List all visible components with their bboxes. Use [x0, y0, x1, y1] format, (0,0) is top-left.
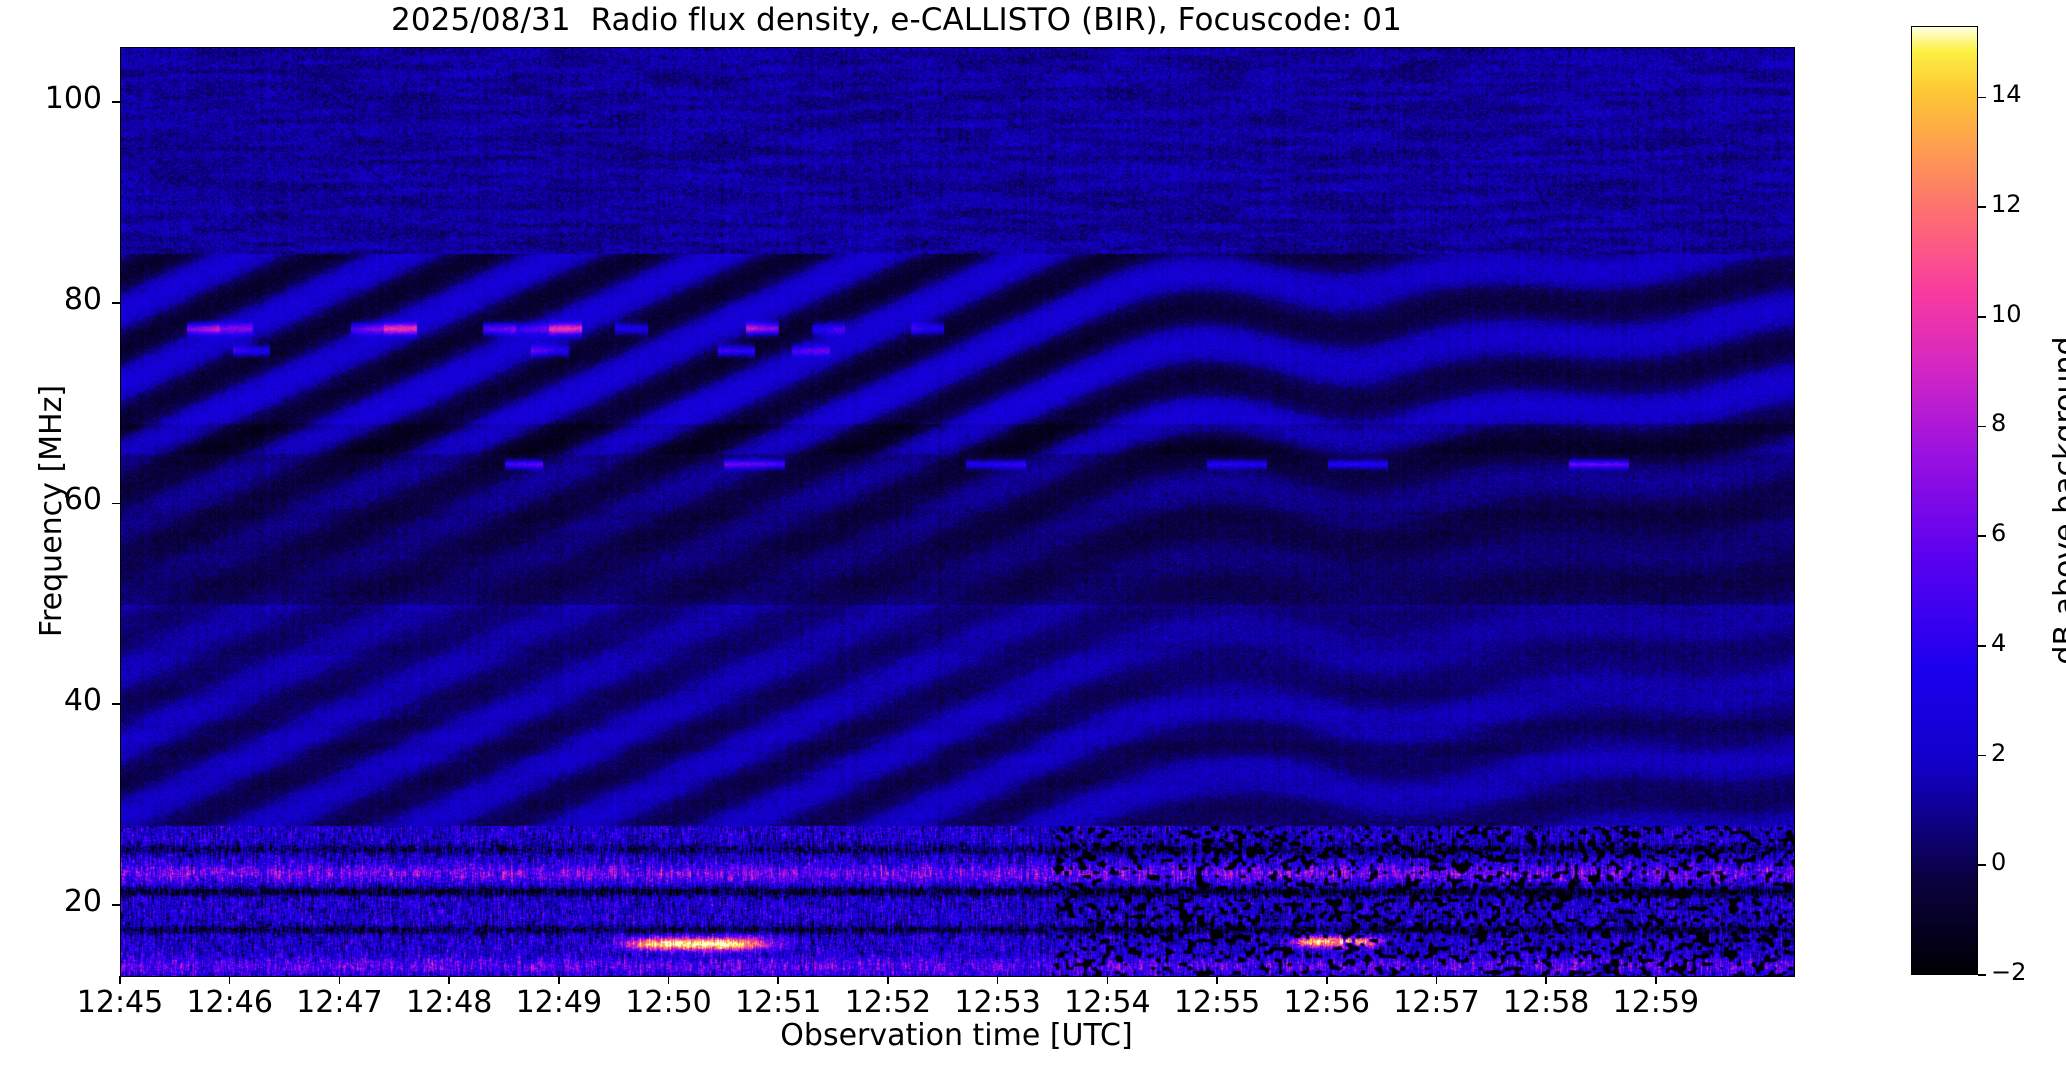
colorbar-gradient [1912, 27, 1977, 974]
spectrogram-plot-area[interactable] [120, 47, 1795, 977]
colorbar-tick-mark [1978, 97, 1986, 99]
x-tick-mark [448, 976, 450, 984]
y-tick-label: 20 [2, 884, 102, 919]
colorbar-tick-mark [1978, 316, 1986, 318]
y-tick-mark [112, 101, 120, 103]
colorbar-tick-mark [1978, 645, 1986, 647]
colorbar-tick-mark [1978, 974, 1986, 976]
colorbar-tick-label: 4 [1991, 629, 2006, 657]
colorbar-tick-mark [1978, 755, 1986, 757]
y-tick-label: 60 [2, 482, 102, 517]
colorbar-tick-label: 8 [1991, 409, 2006, 437]
colorbar-title: dB above background [2048, 26, 2066, 975]
y-tick-label: 100 [2, 81, 102, 116]
x-tick-label: 12:59 [1586, 985, 1726, 1020]
colorbar-tick-label: 6 [1991, 519, 2006, 547]
x-tick-mark [1545, 976, 1547, 984]
y-tick-label: 80 [2, 282, 102, 317]
colorbar-tick-label: 12 [1991, 190, 2022, 218]
x-tick-mark [1436, 976, 1438, 984]
y-tick-mark [112, 503, 120, 505]
colorbar-tick-mark [1978, 206, 1986, 208]
x-tick-mark [339, 976, 341, 984]
x-tick-mark [558, 976, 560, 984]
x-tick-mark [997, 976, 999, 984]
colorbar-tick-label: 0 [1991, 848, 2006, 876]
colorbar[interactable] [1911, 26, 1978, 975]
colorbar-tick-label: −2 [1991, 958, 2026, 986]
y-tick-mark [112, 904, 120, 906]
x-tick-mark [1107, 976, 1109, 984]
x-tick-mark [887, 976, 889, 984]
colorbar-tick-mark [1978, 864, 1986, 866]
x-tick-mark [119, 976, 121, 984]
x-axis-title: Observation time [UTC] [120, 1018, 1793, 1053]
x-tick-mark [668, 976, 670, 984]
colorbar-tick-label: 14 [1991, 80, 2022, 108]
x-tick-mark [1326, 976, 1328, 984]
page-title: 2025/08/31 Radio flux density, e-CALLIST… [0, 2, 1793, 38]
x-tick-mark [777, 976, 779, 984]
y-tick-label: 40 [2, 683, 102, 718]
spectrogram-heatmap[interactable] [121, 48, 1794, 976]
colorbar-tick-mark [1978, 426, 1986, 428]
colorbar-tick-mark [1978, 535, 1986, 537]
y-tick-mark [112, 302, 120, 304]
colorbar-tick-label: 10 [1991, 300, 2022, 328]
y-tick-mark [112, 703, 120, 705]
x-tick-mark [1655, 976, 1657, 984]
x-tick-mark [1216, 976, 1218, 984]
colorbar-tick-label: 2 [1991, 739, 2006, 767]
spectrogram-figure: 2025/08/31 Radio flux density, e-CALLIST… [0, 0, 2066, 1067]
x-tick-mark [229, 976, 231, 984]
